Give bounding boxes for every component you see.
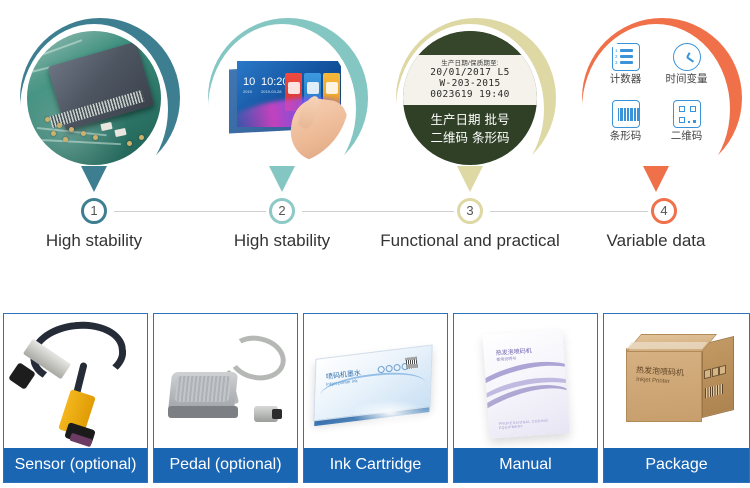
screen-clock-left-sub: 2019	[243, 89, 252, 94]
accessory-cards-section: Sensor (optional) Pedal (optional) 喷码机墨水…	[3, 313, 747, 483]
step-badge-1[interactable]: 1	[81, 198, 107, 224]
accessory-caption-pedal: Pedal (optional)	[154, 448, 297, 482]
feature-item-2[interactable]: 10 2019 10:20 2019-03-28	[188, 18, 376, 200]
accessory-card-sensor[interactable]: Sensor (optional)	[3, 313, 148, 483]
step-connector-3	[490, 211, 648, 212]
variable-data-cell-barcode: 条形码	[595, 100, 656, 157]
carton-box-photo: 热发泡喷码机 Inkjet Printer	[604, 314, 749, 450]
circuit-board-photo	[27, 31, 161, 165]
feature-item-4[interactable]: 123 计数器 时间变量	[562, 18, 750, 200]
feature-label-4: Variable data	[562, 228, 750, 253]
screen-clock-left: 10	[243, 77, 255, 88]
time-variable-icon	[673, 43, 701, 71]
printed-label-line-1: 20/01/2017 L5	[403, 67, 537, 78]
feature-pin-1	[14, 18, 174, 200]
screen-clock-main-sub: 2019-03-28	[261, 89, 281, 94]
foot-pedal-photo	[154, 314, 297, 450]
feature-item-3[interactable]: 生产日期/保质期至: 20/01/2017 L5 W-203-2015 0023…	[376, 18, 564, 200]
qrcode-icon	[673, 100, 701, 128]
printed-label-line-3: 0023619 19:40	[403, 89, 537, 100]
barcode-label: 条形码	[595, 130, 656, 143]
accessory-card-ink-cartridge[interactable]: 喷码机墨水 Inkjet printer ink Ink Cartridge	[303, 313, 448, 483]
features-section: 10 2019 10:20 2019-03-28	[0, 0, 750, 300]
printed-date-label-photo: 生产日期/保质期至: 20/01/2017 L5 W-203-2015 0023…	[403, 31, 537, 165]
feature-pin-tail-1	[81, 166, 107, 192]
step-badge-4[interactable]: 4	[651, 198, 677, 224]
feature-pin-tail-3	[457, 166, 483, 192]
accessory-card-package[interactable]: 热发泡喷码机 Inkjet Printer Package	[603, 313, 750, 483]
time-variable-label: 时间变量	[656, 73, 717, 86]
page-root: 10 2019 10:20 2019-03-28	[0, 0, 750, 488]
feature-label-1: High stability	[0, 228, 188, 253]
printed-label-caption-1: 生产日期 批号	[403, 111, 537, 129]
counter-icon: 123	[612, 43, 640, 71]
step-badge-2[interactable]: 2	[269, 198, 295, 224]
accessory-caption-ink-cartridge: Ink Cartridge	[304, 448, 447, 482]
variable-data-icons: 123 计数器 时间变量	[589, 31, 723, 165]
feature-pin-3: 生产日期/保质期至: 20/01/2017 L5 W-203-2015 0023…	[390, 18, 550, 200]
qrcode-label: 二维码	[656, 130, 717, 143]
accessory-caption-package: Package	[604, 448, 749, 482]
ink-cartridge-box-photo: 喷码机墨水 Inkjet printer ink	[304, 314, 447, 450]
feature-pin-tail-4	[643, 166, 669, 192]
touchscreen-photo: 10 2019 10:20 2019-03-28	[215, 31, 349, 165]
variable-data-cell-qrcode: 二维码	[656, 100, 717, 157]
feature-pin-2: 10 2019 10:20 2019-03-28	[202, 18, 362, 200]
counter-label: 计数器	[595, 73, 656, 86]
manual-booklet-photo: 热发泡喷码机 使用说明书 PROFESSIONAL CODING EQUIPME…	[454, 314, 597, 450]
accessory-card-pedal[interactable]: Pedal (optional)	[153, 313, 298, 483]
feature-pin-4: 123 计数器 时间变量	[576, 18, 736, 200]
step-connector-1	[114, 211, 266, 212]
feature-label-2: High stability	[188, 228, 376, 253]
sensor-photo	[4, 314, 147, 450]
variable-data-cell-time: 时间变量	[656, 43, 717, 100]
feature-pin-tail-2	[269, 166, 295, 192]
printed-label-line-2: W-203-2015	[403, 78, 537, 89]
manual-cover-subtitle: 使用说明书	[496, 356, 516, 363]
printed-label-caption-2: 二维码 条形码	[403, 129, 537, 147]
step-connector-2	[302, 211, 454, 212]
barcode-icon	[612, 100, 640, 128]
variable-data-cell-counter: 123 计数器	[595, 43, 656, 100]
printed-label-header: 生产日期/保质期至:	[403, 57, 537, 67]
feature-label-3: Functional and practical	[376, 228, 564, 253]
accessory-caption-sensor: Sensor (optional)	[4, 448, 147, 482]
feature-item-1[interactable]	[0, 18, 188, 200]
accessory-caption-manual: Manual	[454, 448, 597, 482]
step-badge-3[interactable]: 3	[457, 198, 483, 224]
step-badge-row: 1 2 3 4	[0, 198, 750, 228]
accessory-card-manual[interactable]: 热发泡喷码机 使用说明书 PROFESSIONAL CODING EQUIPME…	[453, 313, 598, 483]
